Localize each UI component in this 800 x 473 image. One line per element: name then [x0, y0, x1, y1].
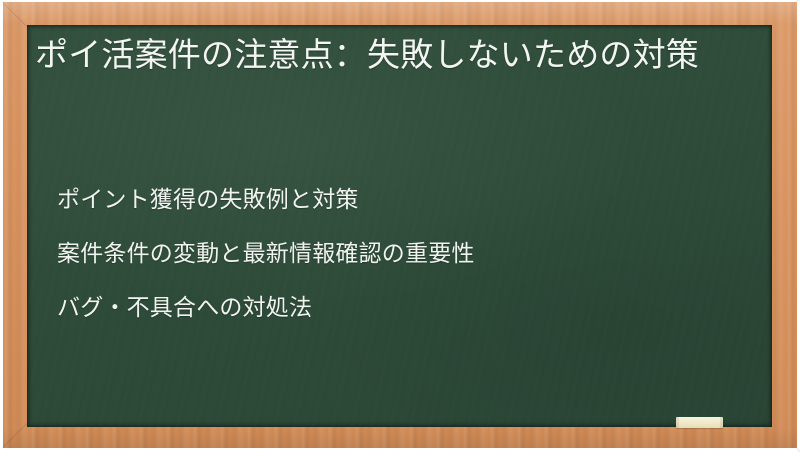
frame-miter-bottom-left	[2, 423, 27, 448]
slide-canvas: ポイ活案件の注意点：失敗しないための対策 ポイント獲得の失敗例と対策 案件条件の…	[0, 0, 800, 450]
frame-miter-bottom-right	[796, 448, 800, 473]
chalkboard-surface: ポイ活案件の注意点：失敗しないための対策 ポイント獲得の失敗例と対策 案件条件の…	[27, 25, 772, 427]
chalk-stick-icon	[676, 417, 723, 428]
chalkboard-content: ポイ活案件の注意点：失敗しないための対策 ポイント獲得の失敗例と対策 案件条件の…	[27, 25, 772, 427]
topic-list: ポイント獲得の失敗例と対策 案件条件の変動と最新情報確認の重要性 バグ・不具合へ…	[57, 173, 747, 335]
chalk-end-right	[720, 417, 723, 428]
list-item: 案件条件の変動と最新情報確認の重要性	[57, 227, 747, 281]
frame-miter-top-right	[796, 0, 800, 2]
chalk-end-left	[676, 417, 679, 428]
list-item: ポイント獲得の失敗例と対策	[57, 173, 747, 227]
frame-top-rail	[3, 2, 797, 24]
list-item: バグ・不具合への対処法	[57, 281, 747, 335]
frame-miter-top-left	[2, 2, 27, 27]
page-title: ポイ活案件の注意点：失敗しないための対策	[35, 33, 735, 77]
frame-bottom-rail	[3, 428, 797, 448]
